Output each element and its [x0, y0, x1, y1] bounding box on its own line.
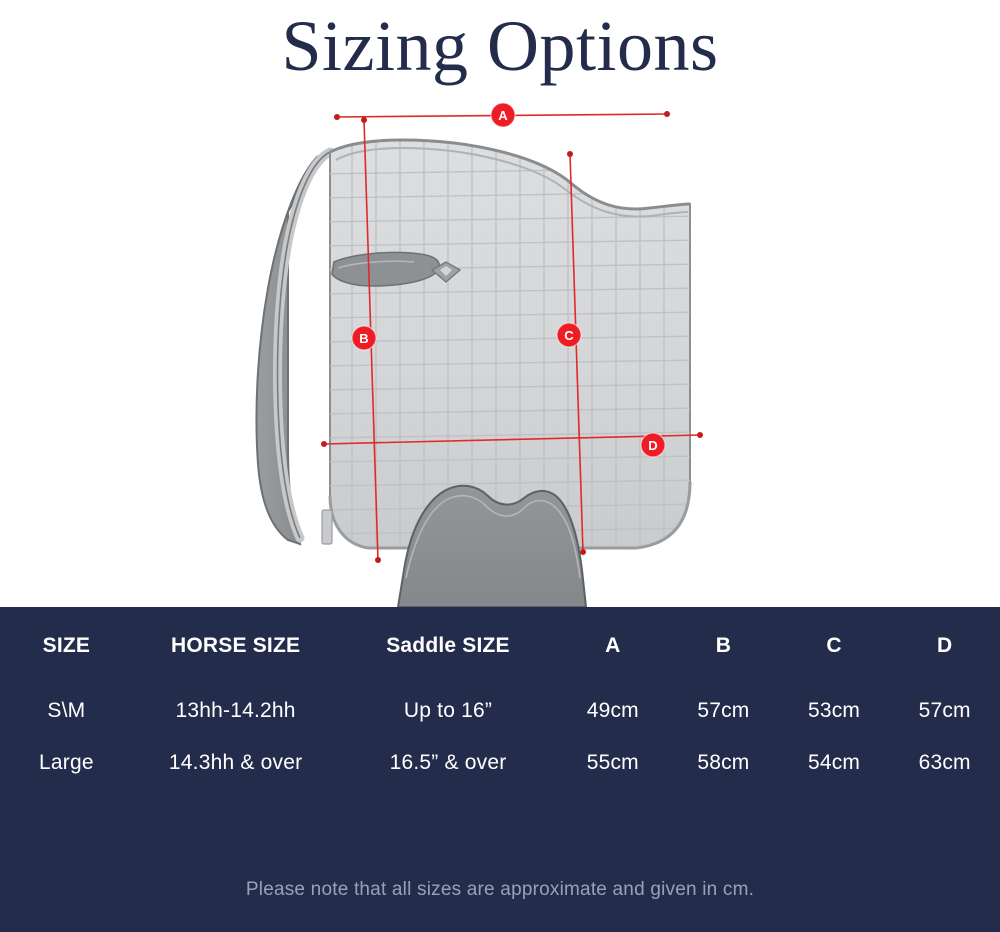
cell-c: 53cm: [779, 685, 890, 737]
column-header-horse: HORSE SIZE: [133, 607, 339, 685]
sizing-options-page: Sizing Options: [0, 0, 1000, 932]
size-chart-table: SIZE HORSE SIZE Saddle SIZE A B C D S\M …: [0, 607, 1000, 789]
marker-badge-d: D: [641, 433, 665, 457]
saddle-pad-illustration: A B C D: [0, 92, 1000, 607]
table-row: Large 14.3hh & over 16.5” & over 55cm 58…: [0, 737, 1000, 789]
cell-horse: 14.3hh & over: [133, 737, 339, 789]
column-header-saddle: Saddle SIZE: [338, 607, 557, 685]
marker-badge-c: C: [557, 323, 581, 347]
side-label-tab: [322, 510, 332, 544]
page-title: Sizing Options: [281, 10, 718, 82]
marker-badge-a-label: A: [498, 108, 508, 123]
pad-far-side-flap: [256, 152, 330, 544]
size-spec-panel: SIZE HORSE SIZE Saddle SIZE A B C D S\M …: [0, 607, 1000, 932]
cell-a: 49cm: [558, 685, 669, 737]
column-header-d: D: [889, 607, 1000, 685]
cell-size: Large: [0, 737, 133, 789]
cell-c: 54cm: [779, 737, 890, 789]
page-title-container: Sizing Options: [0, 0, 1000, 92]
cell-saddle: Up to 16”: [338, 685, 557, 737]
sizing-note: Please note that all sizes are approxima…: [0, 879, 1000, 901]
marker-badge-b-label: B: [359, 331, 368, 346]
cell-size: S\M: [0, 685, 133, 737]
column-header-b: B: [668, 607, 779, 685]
table-header-row: SIZE HORSE SIZE Saddle SIZE A B C D: [0, 607, 1000, 685]
cell-d: 63cm: [889, 737, 1000, 789]
table-row: S\M 13hh-14.2hh Up to 16” 49cm 57cm 53cm…: [0, 685, 1000, 737]
saddle-pad-diagram: A B C D: [0, 92, 1000, 607]
cell-b: 58cm: [668, 737, 779, 789]
column-header-size: SIZE: [0, 607, 133, 685]
cell-b: 57cm: [668, 685, 779, 737]
cell-a: 55cm: [558, 737, 669, 789]
column-header-a: A: [558, 607, 669, 685]
cell-horse: 13hh-14.2hh: [133, 685, 339, 737]
cell-d: 57cm: [889, 685, 1000, 737]
marker-badge-a: A: [491, 103, 515, 127]
cell-saddle: 16.5” & over: [338, 737, 557, 789]
marker-badge-d-label: D: [648, 438, 657, 453]
marker-badge-b: B: [352, 326, 376, 350]
marker-badge-c-label: C: [564, 328, 574, 343]
column-header-c: C: [779, 607, 890, 685]
